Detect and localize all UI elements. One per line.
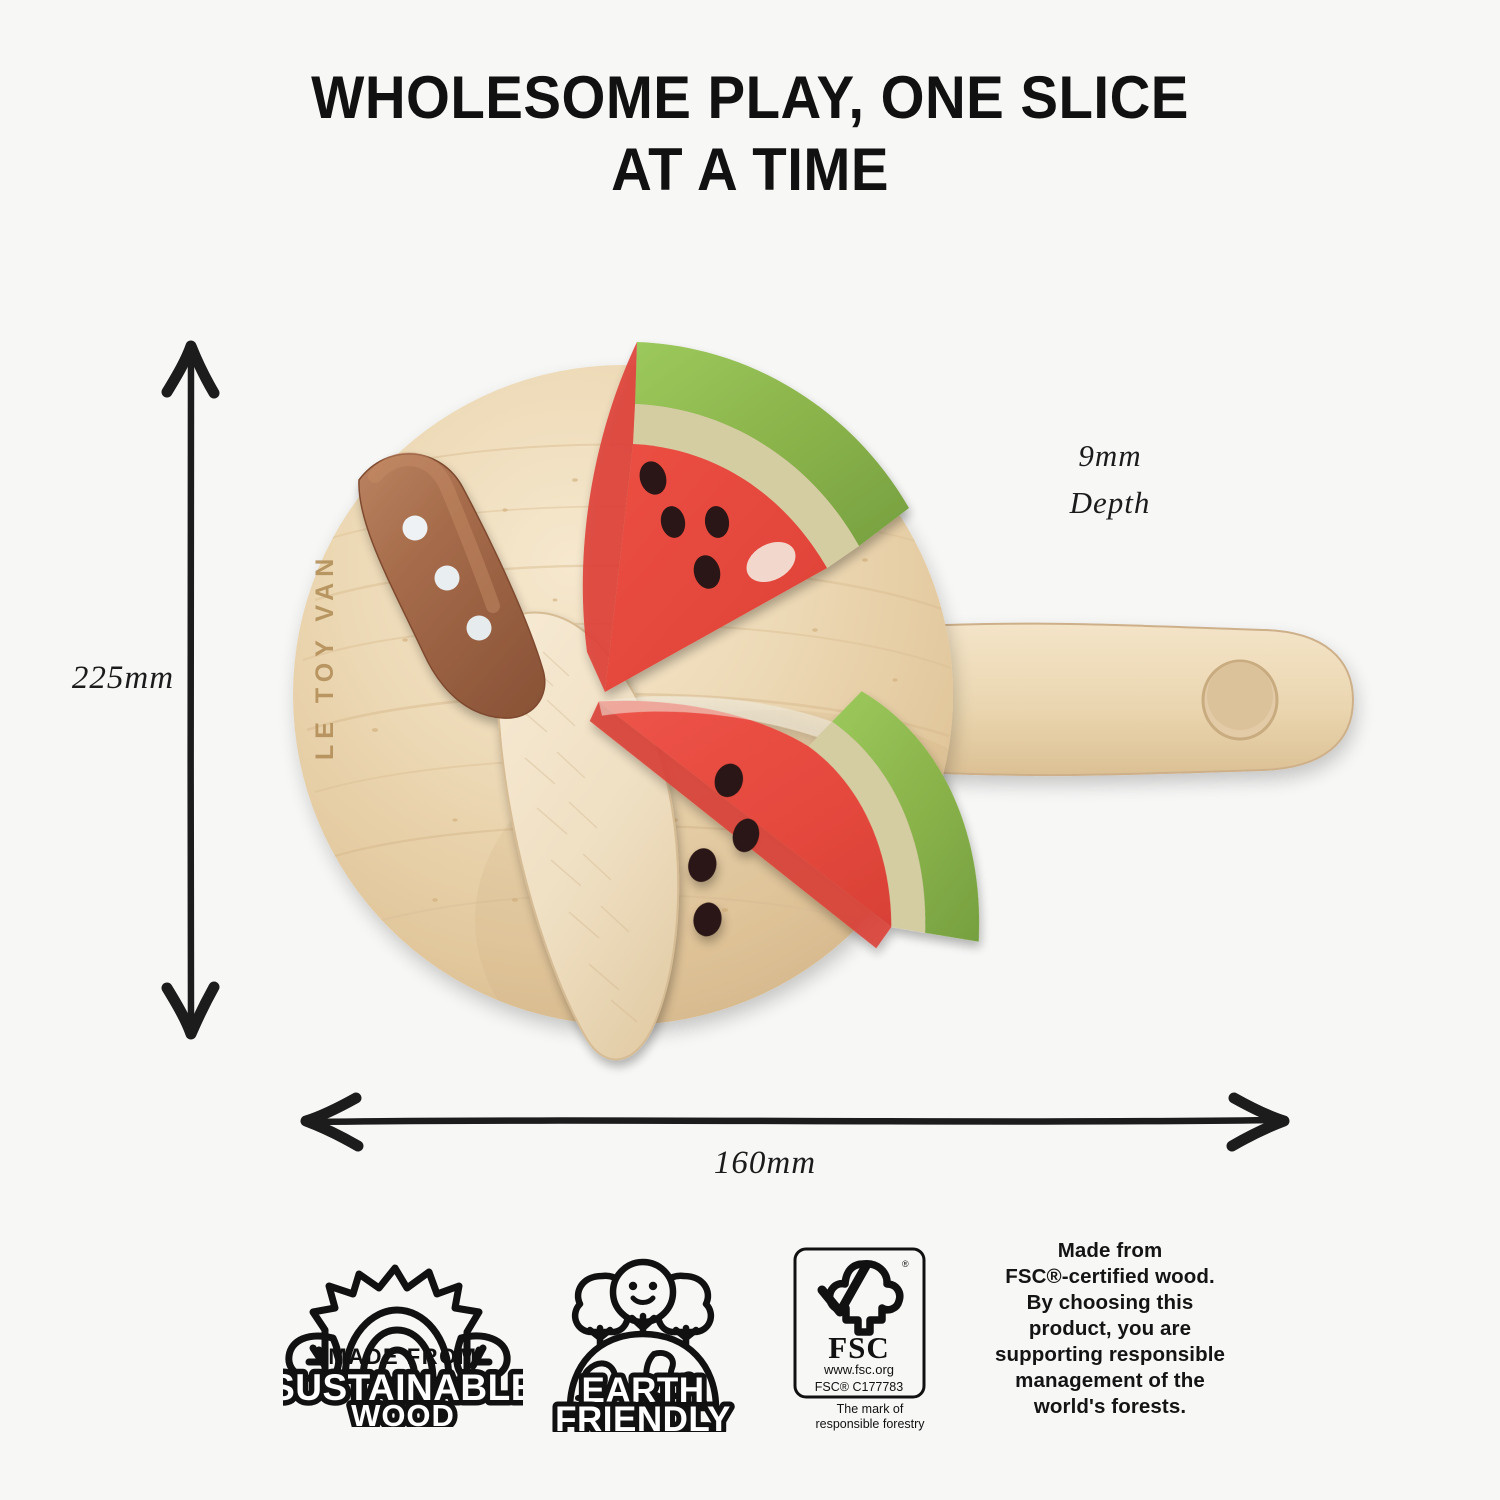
sustainable-badge-line1: MADE FROM	[328, 1344, 477, 1369]
fsc-statement: Made from FSC®-certified wood. By choosi…	[955, 1238, 1265, 1420]
earth-friendly-badge: EARTH FRIENDLY	[548, 1242, 738, 1432]
knife-rivet	[403, 516, 428, 541]
fsc-logo-box: ® FSC www.fsc.org FSC® C177783	[792, 1246, 927, 1401]
sustainable-wood-badge: MADE FROM SUSTAINABLE WOOD	[283, 1252, 523, 1427]
knife-rivet	[435, 566, 460, 591]
fsc-code: FSC® C177783	[815, 1380, 903, 1394]
page-title: WHOLESOME PLAY, ONE SLICE AT A TIME	[45, 62, 1455, 206]
fsc-caption: The mark of responsible forestry	[770, 1402, 970, 1432]
width-dimension-label: 160mm	[655, 1145, 875, 1182]
product-marketing-image: WHOLESOME PLAY, ONE SLICE AT A TIME 225m…	[0, 0, 1500, 1500]
knife-rivet	[467, 616, 492, 641]
earth-badge-line2: FRIENDLY	[555, 1400, 731, 1432]
certification-badges-row: MADE FROM SUSTAINABLE WOOD	[0, 1238, 1500, 1458]
fsc-mark-text: FSC	[828, 1330, 890, 1365]
sustainable-badge-line3: WOOD	[351, 1398, 455, 1427]
brand-engraving: LE TOY VAN	[311, 553, 339, 760]
fsc-url: www.fsc.org	[823, 1362, 894, 1377]
wooden-paddle-board-with-watermelon: LE TOY VAN	[255, 300, 1375, 1090]
product-photo: LE TOY VAN	[255, 300, 1375, 1090]
svg-text:®: ®	[902, 1259, 909, 1269]
height-dimension-label: 225mm	[48, 660, 198, 697]
